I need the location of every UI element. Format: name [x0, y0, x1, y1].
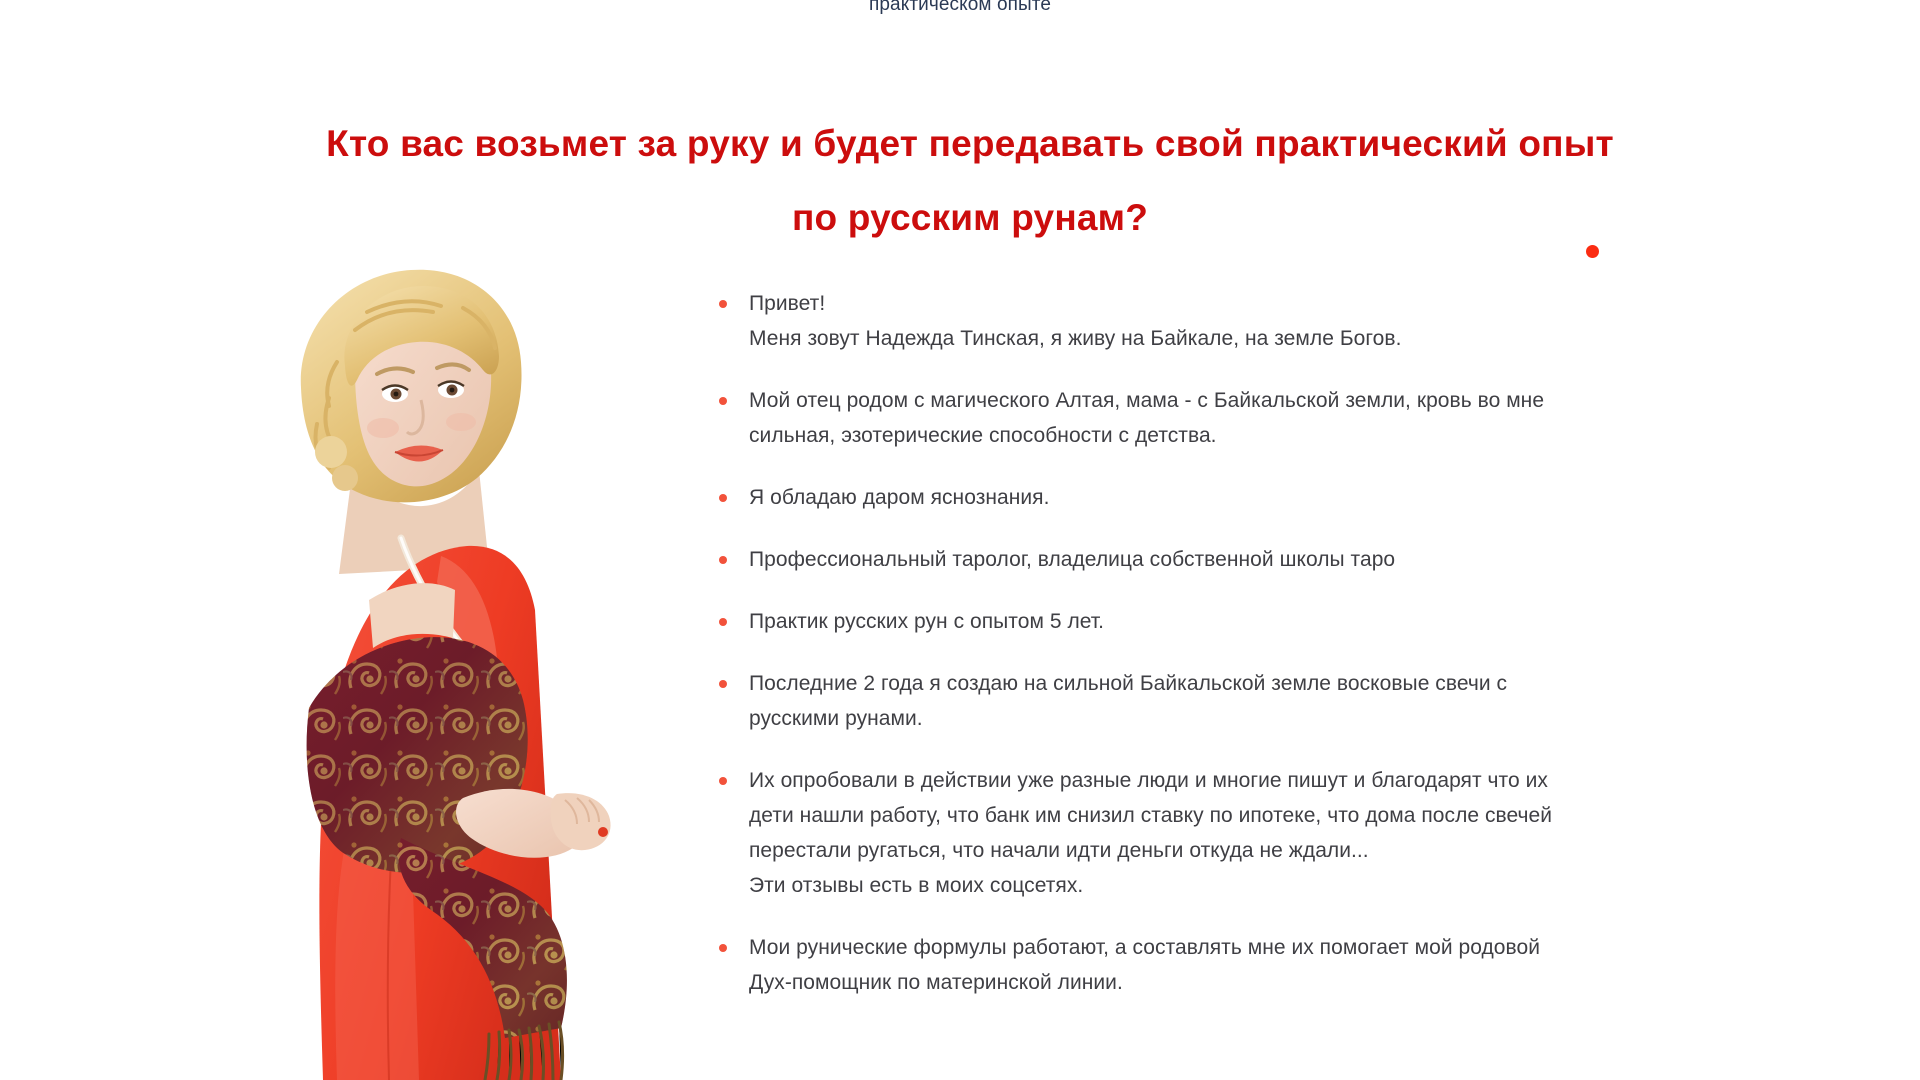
list-item-text: Мой отец родом с магического Алтая, мама… — [749, 383, 1756, 453]
portrait-illustration — [205, 238, 665, 1080]
bullet-dot-icon — [719, 618, 727, 626]
bullet-dot-icon — [719, 777, 727, 785]
list-item-text: Я обладаю даром яснознания. — [749, 480, 1756, 515]
list-item-text: Последние 2 года я создаю на сильной Бай… — [749, 666, 1756, 736]
bullet-dot-icon — [719, 556, 727, 564]
top-partial-text: практическом опыте — [0, 0, 1920, 16]
list-item-text: Мои рунические формулы работают, а соста… — [749, 930, 1756, 1000]
page-title: Кто вас возьмет за руку и будет передава… — [120, 107, 1820, 255]
list-item: Профессиональный таролог, владелица собс… — [716, 542, 1756, 577]
list-item-text: Их опробовали в действии уже разные люди… — [749, 763, 1756, 903]
list-item: Их опробовали в действии уже разные люди… — [716, 763, 1756, 903]
list-item-text: Привет! Меня зовут Надежда Тинская, я жи… — [749, 286, 1756, 356]
list-item: Привет! Меня зовут Надежда Тинская, я жи… — [716, 286, 1756, 356]
bullet-dot-icon — [719, 494, 727, 502]
list-item: Я обладаю даром яснознания. — [716, 480, 1756, 515]
bio-bullet-list: Привет! Меня зовут Надежда Тинская, я жи… — [716, 286, 1756, 1027]
bullet-dot-icon — [719, 397, 727, 405]
portrait-photo — [205, 238, 665, 1080]
list-item: Мой отец родом с магического Алтая, мама… — [716, 383, 1756, 453]
bullet-dot-icon — [719, 300, 727, 308]
list-item: Последние 2 года я создаю на сильной Бай… — [716, 666, 1756, 736]
orphan-bullet-dot-icon — [1586, 245, 1599, 258]
list-item: Мои рунические формулы работают, а соста… — [716, 930, 1756, 1000]
bullet-dot-icon — [719, 944, 727, 952]
list-item-text: Практик русских рун с опытом 5 лет. — [749, 604, 1756, 639]
bullet-dot-icon — [719, 680, 727, 688]
page-title-line-1: Кто вас возьмет за руку и будет передава… — [120, 107, 1820, 181]
list-item: Практик русских рун с опытом 5 лет. — [716, 604, 1756, 639]
list-item-text: Профессиональный таролог, владелица собс… — [749, 542, 1756, 577]
